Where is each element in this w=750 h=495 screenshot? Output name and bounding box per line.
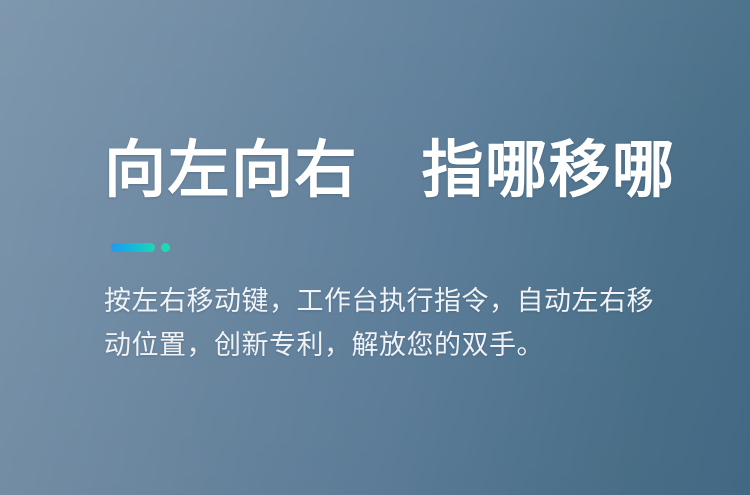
banner-content: 向左向右 指哪移哪 按左右移动键，工作台执行指令，自动左右移动位置，创新专利，解… xyxy=(104,132,684,367)
page-title: 向左向右 指哪移哪 xyxy=(104,132,684,210)
banner-description: 按左右移动键，工作台执行指令，自动左右移动位置，创新专利，解放您的双手。 xyxy=(104,279,664,367)
accent-bar-icon xyxy=(111,243,155,252)
accent-divider xyxy=(111,242,684,252)
promo-banner: 向左向右 指哪移哪 按左右移动键，工作台执行指令，自动左右移动位置，创新专利，解… xyxy=(0,0,750,495)
accent-dot-icon xyxy=(161,243,170,252)
